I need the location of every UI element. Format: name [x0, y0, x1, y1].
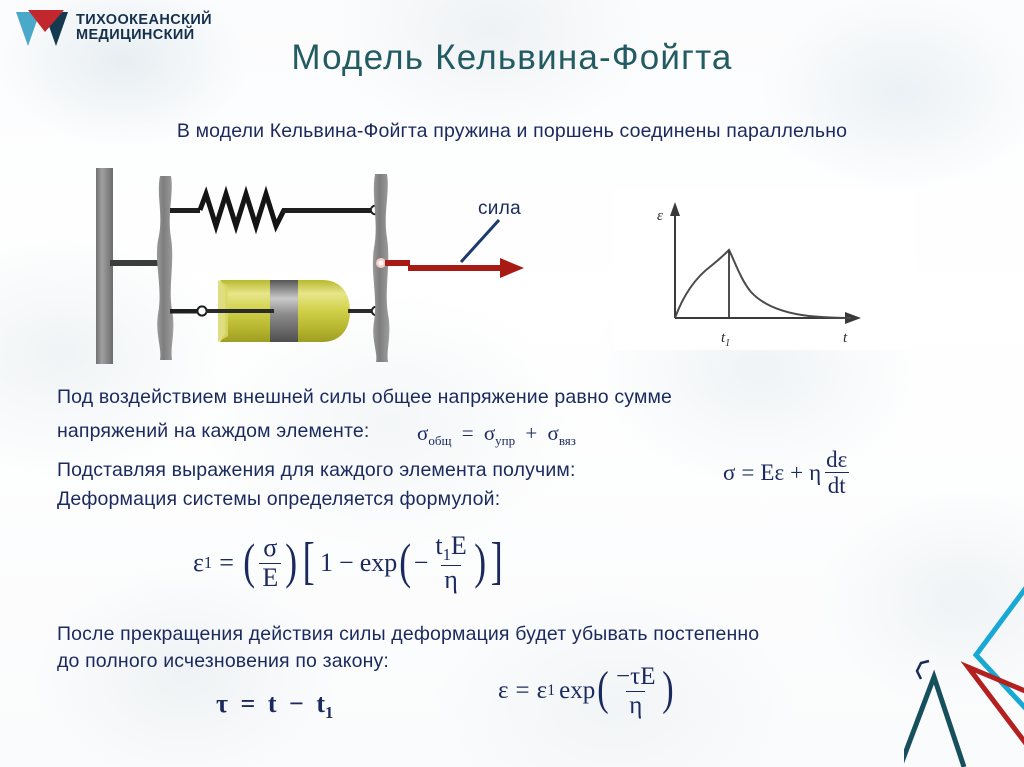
strain-time-chart: ε t t1 — [613, 188, 916, 350]
eq-creep-exp-t-sub: 1 — [443, 545, 451, 564]
eq-const-equals: = — [741, 460, 754, 486]
eq-sum-lhs: σ — [417, 421, 428, 445]
equation-stress-sum: σобщ = σупр + σвяз — [417, 421, 576, 449]
eq-tau-t: t — [268, 689, 277, 718]
force-label-leader-line — [455, 218, 505, 266]
right-plate — [373, 174, 390, 362]
eq-creep-equals: = — [219, 548, 234, 578]
eq-relax-equals: = — [516, 677, 530, 705]
chart-tick-t1: t1 — [721, 330, 730, 349]
eq-relax-exponent-fraction: −τE η — [613, 664, 658, 718]
slide-canvas: ТИХООКЕАНСКИЙ МЕДИЦИНСКИЙ Модель Кельвин… — [0, 0, 1024, 767]
chart-ylabel: ε — [657, 208, 663, 224]
decorative-corner-shapes — [904, 567, 1024, 767]
eq-sum-term1-sub: упр — [495, 433, 515, 448]
left-plate — [157, 176, 173, 360]
eq-sum-term2: σ — [547, 421, 558, 445]
eq-tau-lhs: τ — [216, 689, 228, 718]
decor-cyan-chevron — [976, 585, 1024, 711]
eq-creep-minus: − — [339, 548, 354, 578]
eq-tau-t1-sub: 1 — [325, 703, 333, 722]
chart-xlabel: t — [843, 330, 848, 346]
paragraph-2: Подставляя выражения для каждого элемент… — [57, 459, 576, 482]
eq-sum-term1: σ — [484, 421, 495, 445]
dashpot-piston — [270, 280, 298, 342]
eq-creep-close-bracket: ] — [491, 532, 503, 591]
chart-y-axis-arrow — [670, 202, 680, 216]
eq-creep-close-paren-2: ) — [474, 533, 486, 590]
eq-sum-plus: + — [525, 421, 537, 445]
dashpot-piston-rod — [206, 309, 274, 313]
chart-curve — [675, 250, 851, 318]
paragraph-1-line-2: напряжений на каждом элементе: — [57, 420, 369, 443]
force-label: сила — [478, 198, 521, 220]
eq-const-numerator: dε — [823, 448, 850, 472]
eq-tau-minus: − — [289, 689, 304, 718]
eq-relax-eps1: ε — [537, 677, 548, 705]
eq-creep-negative: − — [414, 548, 429, 578]
eq-relax-lhs: ε — [498, 677, 509, 705]
eq-relax-numerator: −τE — [613, 664, 658, 691]
eq-const-derivative-fraction: dε dt — [823, 448, 850, 498]
equation-creep-strain: ε1 = ( σ E ) [ 1 − exp ( − t1E η ) ] — [193, 533, 506, 594]
logo-line-1: ТИХООКЕАНСКИЙ — [76, 13, 212, 28]
paragraph-1-line-1: Под воздействием внешней силы общее напр… — [57, 386, 672, 409]
eq-creep-exp-e: E — [451, 531, 467, 560]
eq-creep-exponent-fraction: t1E η — [432, 533, 469, 594]
page-title: Модель Кельвина-Фойгта — [0, 38, 1024, 78]
subtitle-text: В модели Кельвина-Фойгта пружина и порше… — [0, 120, 1024, 143]
eq-sum-equals: = — [462, 421, 474, 445]
eq-creep-open-paren: ( — [243, 533, 255, 590]
eq-relax-exp: exp — [559, 677, 595, 705]
eq-const-denominator: dt — [825, 472, 849, 497]
spring-element — [200, 194, 284, 226]
paragraph-4-line-1: После прекращения действия силы деформац… — [57, 623, 759, 646]
equation-relaxation: ε = ε1 exp ( −τE η ) — [498, 664, 676, 718]
eq-creep-open-bracket: [ — [302, 532, 314, 591]
eq-const-plus: + — [790, 460, 803, 486]
eq-creep-exp: exp — [360, 548, 398, 578]
eq-const-eta: η — [809, 460, 821, 486]
decor-red-chevron — [968, 667, 1024, 749]
equation-tau-definition: τ = t − t1 — [216, 689, 333, 723]
eq-creep-exp-denominator: η — [441, 565, 461, 594]
eq-creep-numerator: σ — [260, 535, 280, 563]
eq-creep-open-paren-2: ( — [400, 533, 412, 590]
spring-right-rod — [282, 208, 372, 213]
eq-creep-denominator: E — [259, 563, 281, 592]
eq-creep-sigma-over-e: σ E — [259, 535, 281, 591]
eq-relax-denominator: η — [626, 691, 645, 719]
paragraph-4-line-2: до полного исчезновения по закону: — [57, 650, 389, 673]
eq-sum-term2-sub: вяз — [559, 433, 576, 448]
eq-relax-eps1-sub: 1 — [547, 682, 555, 700]
eq-tau-t1: t — [316, 689, 325, 718]
eq-const-elastic: Eε — [760, 460, 784, 486]
eq-creep-exp-t: t — [435, 531, 442, 560]
decor-teal-chevron — [904, 677, 964, 767]
eq-creep-exp-numerator: t1E — [432, 533, 469, 565]
eq-const-lhs: σ — [723, 460, 735, 486]
dashpot-left-pin — [197, 306, 206, 315]
paragraph-3: Деформация системы определяется формулой… — [57, 488, 500, 511]
equation-constitutive: σ = Eε + η dε dt — [723, 448, 852, 498]
eq-relax-open-paren: ( — [597, 662, 608, 716]
spring-left-rod — [170, 208, 200, 213]
eq-creep-lhs: ε — [193, 548, 204, 578]
eq-sum-lhs-sub: общ — [428, 433, 451, 448]
eq-creep-close-paren: ) — [286, 533, 298, 590]
kelvin-voigt-mechanical-diagram — [92, 168, 422, 364]
eq-creep-one: 1 — [320, 548, 333, 578]
eq-creep-lhs-sub: 1 — [204, 553, 212, 573]
force-attachment-dot — [379, 261, 384, 266]
decor-navy-arc — [917, 661, 929, 679]
eq-relax-close-paren: ) — [663, 662, 674, 716]
eq-tau-equals: = — [240, 689, 255, 718]
dashpot-left-rod — [170, 309, 198, 314]
